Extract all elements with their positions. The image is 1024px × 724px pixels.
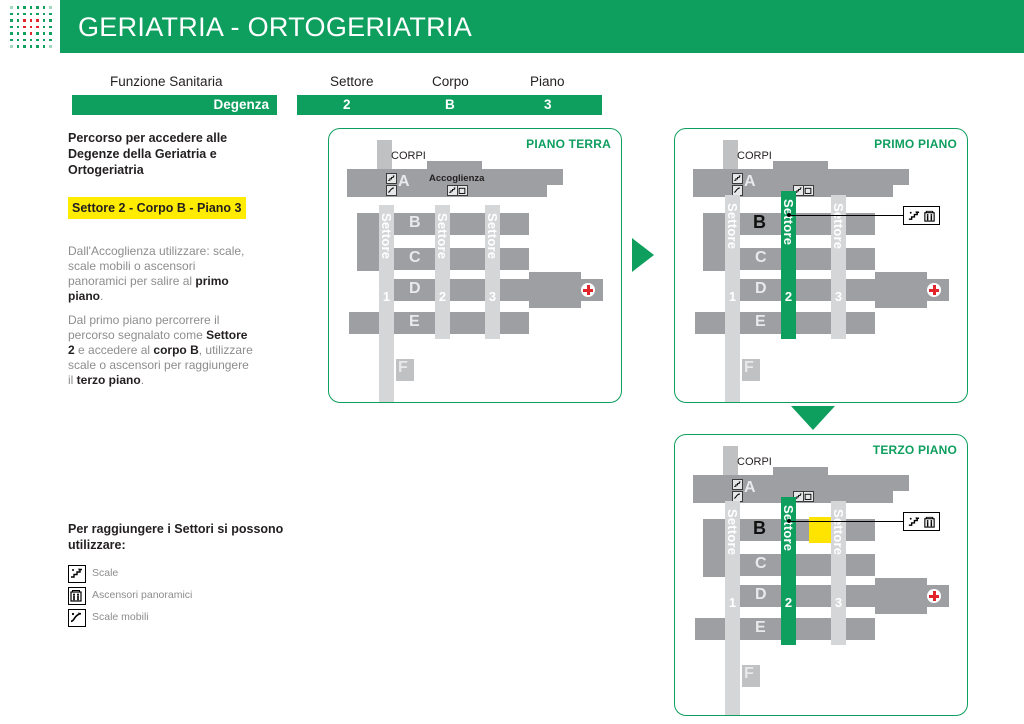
settore-label: Settore: [330, 74, 374, 89]
logo-cell: [15, 11, 22, 18]
settore-1-label: Settore: [725, 509, 740, 555]
settore-3-corridor[interactable]: Settore 3: [831, 195, 846, 339]
accoglienza-label: Accoglienza: [429, 173, 484, 184]
settore-2-corridor[interactable]: Settore 2: [435, 205, 450, 339]
corpo-letter-d: D: [409, 280, 421, 298]
stairs-icon: [907, 515, 920, 528]
corpo-c-east: [499, 248, 529, 270]
settore-3-label: Settore: [831, 203, 846, 249]
first-aid-cross-icon: [581, 283, 595, 297]
corpo-letter-e: E: [409, 313, 420, 331]
corpo-letter-e: E: [755, 619, 766, 637]
logo-cell: [28, 43, 35, 50]
settore-1-corridor[interactable]: Settore 1: [725, 501, 740, 715]
logo-cell: [15, 43, 22, 50]
stairs-icon: [732, 173, 743, 184]
legend-label-scale-mobili: Scale mobili: [92, 611, 149, 623]
corpo-a-notch: [773, 467, 828, 477]
logo-cell: [15, 24, 22, 31]
step1-text-c: .: [100, 289, 103, 303]
callout-box-third: [903, 512, 940, 531]
piano-label: Piano: [530, 74, 565, 89]
corpo-letter-d: D: [755, 280, 767, 298]
settore-2-label: Settore: [435, 213, 450, 259]
corpo-a-tip: [873, 169, 909, 185]
corpo-a-tip: [873, 475, 909, 491]
panoramic-lift-icon: [923, 209, 936, 222]
settore-2-label: Settore: [781, 505, 796, 551]
settore-1-number: 1: [383, 289, 390, 304]
arrow-down-icon: [791, 406, 835, 430]
step2-text-g: .: [141, 373, 144, 387]
legend-item-ascensori: Ascensori panoramici: [68, 587, 298, 609]
settore-1-label: Settore: [725, 203, 740, 249]
step2-text-corpo: corpo B: [153, 343, 198, 357]
callout-line: [789, 215, 909, 216]
logo-cell: [28, 37, 35, 44]
corpo-c-east: [845, 554, 875, 576]
stairs-icon: [68, 565, 86, 583]
corpo-letter-a: A: [744, 479, 756, 497]
floorplan-first: CORPI A Settore 1 Settore 2 Settore 3 B …: [675, 129, 967, 403]
corpo-letter-c: C: [409, 249, 421, 267]
logo-cell: [41, 37, 48, 44]
corpi-label: CORPI: [737, 150, 772, 162]
panoramic-lift-icon: [457, 185, 468, 196]
settore-3-corridor[interactable]: Settore 3: [831, 501, 846, 645]
corpo-letter-a: A: [398, 173, 410, 191]
instructions-lead: Percorso per accedere alle Degenze della…: [68, 130, 268, 178]
corpo-letter-a: A: [744, 173, 756, 191]
settore-3-number: 3: [489, 289, 496, 304]
funzione-sanitaria-value: Degenza: [213, 97, 269, 112]
corpo-label: Corpo: [432, 74, 469, 89]
instructions-step-2: Dal primo piano percorrere il percorso s…: [68, 313, 253, 388]
settore-2-number: 2: [785, 289, 792, 304]
route-summary-highlight: Settore 2 - Corpo B - Piano 3: [68, 197, 246, 219]
funzione-sanitaria-label: Funzione Sanitaria: [110, 74, 223, 89]
floor-title-third: TERZO PIANO: [873, 443, 957, 457]
legend-label-ascensori: Ascensori panoramici: [92, 589, 192, 601]
corpo-letter-c: C: [755, 249, 767, 267]
escalator-icon: [386, 185, 397, 196]
settore-1-number: 1: [729, 595, 736, 610]
route-summary-text: Settore 2 - Corpo B - Piano 3: [72, 201, 241, 215]
stairs-icon: [386, 173, 397, 184]
settore-1-corridor[interactable]: Settore 1: [379, 205, 394, 403]
settore-3-corridor[interactable]: Settore 3: [485, 205, 500, 339]
step2-text-piano: terzo piano: [77, 373, 141, 387]
logo-cell: [47, 24, 54, 31]
east-wing-link: [499, 281, 539, 299]
logo-cell: [28, 24, 35, 31]
corpo-letter-e: E: [755, 313, 766, 331]
floor-title-ground: PIANO TERRA: [526, 137, 611, 151]
floorplan-third: CORPI A Settore 1 Settore 2 Settore 3 B: [675, 435, 967, 715]
funzione-sanitaria-value-bar[interactable]: Degenza: [72, 95, 277, 115]
panoramic-lift-icon: [803, 491, 814, 502]
corpo-a-tip: [527, 169, 563, 185]
corpo-letter-b: B: [409, 214, 421, 232]
east-wing-link: [845, 587, 885, 605]
panoramic-lift-icon: [803, 185, 814, 196]
corpo-letter-c: C: [755, 555, 767, 573]
page-title: GERIATRIA - ORTOGERIATRIA: [78, 12, 472, 43]
logo-cell: [47, 37, 54, 44]
settore-2-number: 2: [785, 595, 792, 610]
panoramic-lift-icon: [68, 587, 86, 605]
stairs-icon: [907, 209, 920, 222]
step2-text-c: e accedere al: [75, 343, 154, 357]
corpo-b-east: [499, 213, 529, 235]
floor-title-first: PRIMO PIANO: [874, 137, 957, 151]
logo-cell: [47, 43, 54, 50]
settore-3-number: 3: [835, 595, 842, 610]
logo-cell: [41, 11, 48, 18]
first-aid-cross-icon: [927, 589, 941, 603]
corpo-c-east: [845, 248, 875, 270]
settore-3-number: 3: [835, 289, 842, 304]
settore-1-label: Settore: [379, 213, 394, 259]
corpo-b-east: [845, 519, 875, 541]
settore-2-number: 2: [439, 289, 446, 304]
corpi-label: CORPI: [737, 456, 772, 468]
floor-map-first[interactable]: CORPI A Settore 1 Settore 2 Settore 3 B …: [674, 128, 968, 403]
legend-list: Scale Ascensori panoramici Scale mobili: [68, 565, 298, 631]
settore-1-corridor[interactable]: Settore 1: [725, 195, 740, 403]
legend-item-scale-mobili: Scale mobili: [68, 609, 298, 631]
corpo-letter-d: D: [755, 586, 767, 604]
panoramic-lift-icon: [923, 515, 936, 528]
floor-map-third[interactable]: CORPI A Settore 1 Settore 2 Settore 3 B: [674, 434, 968, 716]
arrow-right-icon: [632, 238, 654, 272]
corpo-a-notch: [427, 161, 482, 171]
piano-value: 3: [544, 97, 552, 112]
legend-title: Per raggiungere i Settori si possono uti…: [68, 521, 288, 553]
east-wing-link: [845, 281, 885, 299]
settore-3-label: Settore: [831, 509, 846, 555]
hospital-logo: [8, 4, 54, 50]
settore-3-label: Settore: [485, 213, 500, 259]
first-aid-cross-icon: [927, 283, 941, 297]
settore-1-number: 1: [729, 289, 736, 304]
corpo-letter-f: F: [744, 665, 754, 683]
corpo-b-east: [845, 213, 875, 235]
instructions-step-1: Dall'Accoglienza utilizzare: scale, scal…: [68, 244, 253, 304]
step2-text-a: Dal primo piano percorrere il percorso s…: [68, 313, 219, 342]
logo-cell: [15, 37, 22, 44]
logo-cell: [41, 24, 48, 31]
corpo-letter-b-active: B: [753, 518, 766, 539]
corpo-value: B: [445, 97, 455, 112]
callout-line: [789, 521, 909, 522]
corpo-letter-b-active: B: [753, 212, 766, 233]
callout-box-first: [903, 206, 940, 225]
escalator-icon: [68, 609, 86, 627]
settore-value: 2: [343, 97, 351, 112]
logo-cell: [41, 43, 48, 50]
corpo-letter-f: F: [744, 359, 754, 377]
corpo-letter-f: F: [398, 359, 408, 377]
floorplan-ground: CORPI A Accoglienza Settore 1 Settore 2 …: [329, 129, 621, 403]
settore-2-label: Settore: [781, 199, 796, 245]
logo-cell: [28, 11, 35, 18]
legend-item-scale: Scale: [68, 565, 298, 587]
floor-map-ground[interactable]: CORPI A Accoglienza Settore 1 Settore 2 …: [328, 128, 622, 403]
corpo-a-notch: [773, 161, 828, 171]
settore-corpo-piano-value-bar[interactable]: 2 B 3: [297, 95, 602, 115]
legend-label-scale: Scale: [92, 567, 118, 579]
logo-cell: [47, 11, 54, 18]
stairs-icon: [732, 479, 743, 490]
corpi-label: CORPI: [391, 150, 426, 162]
